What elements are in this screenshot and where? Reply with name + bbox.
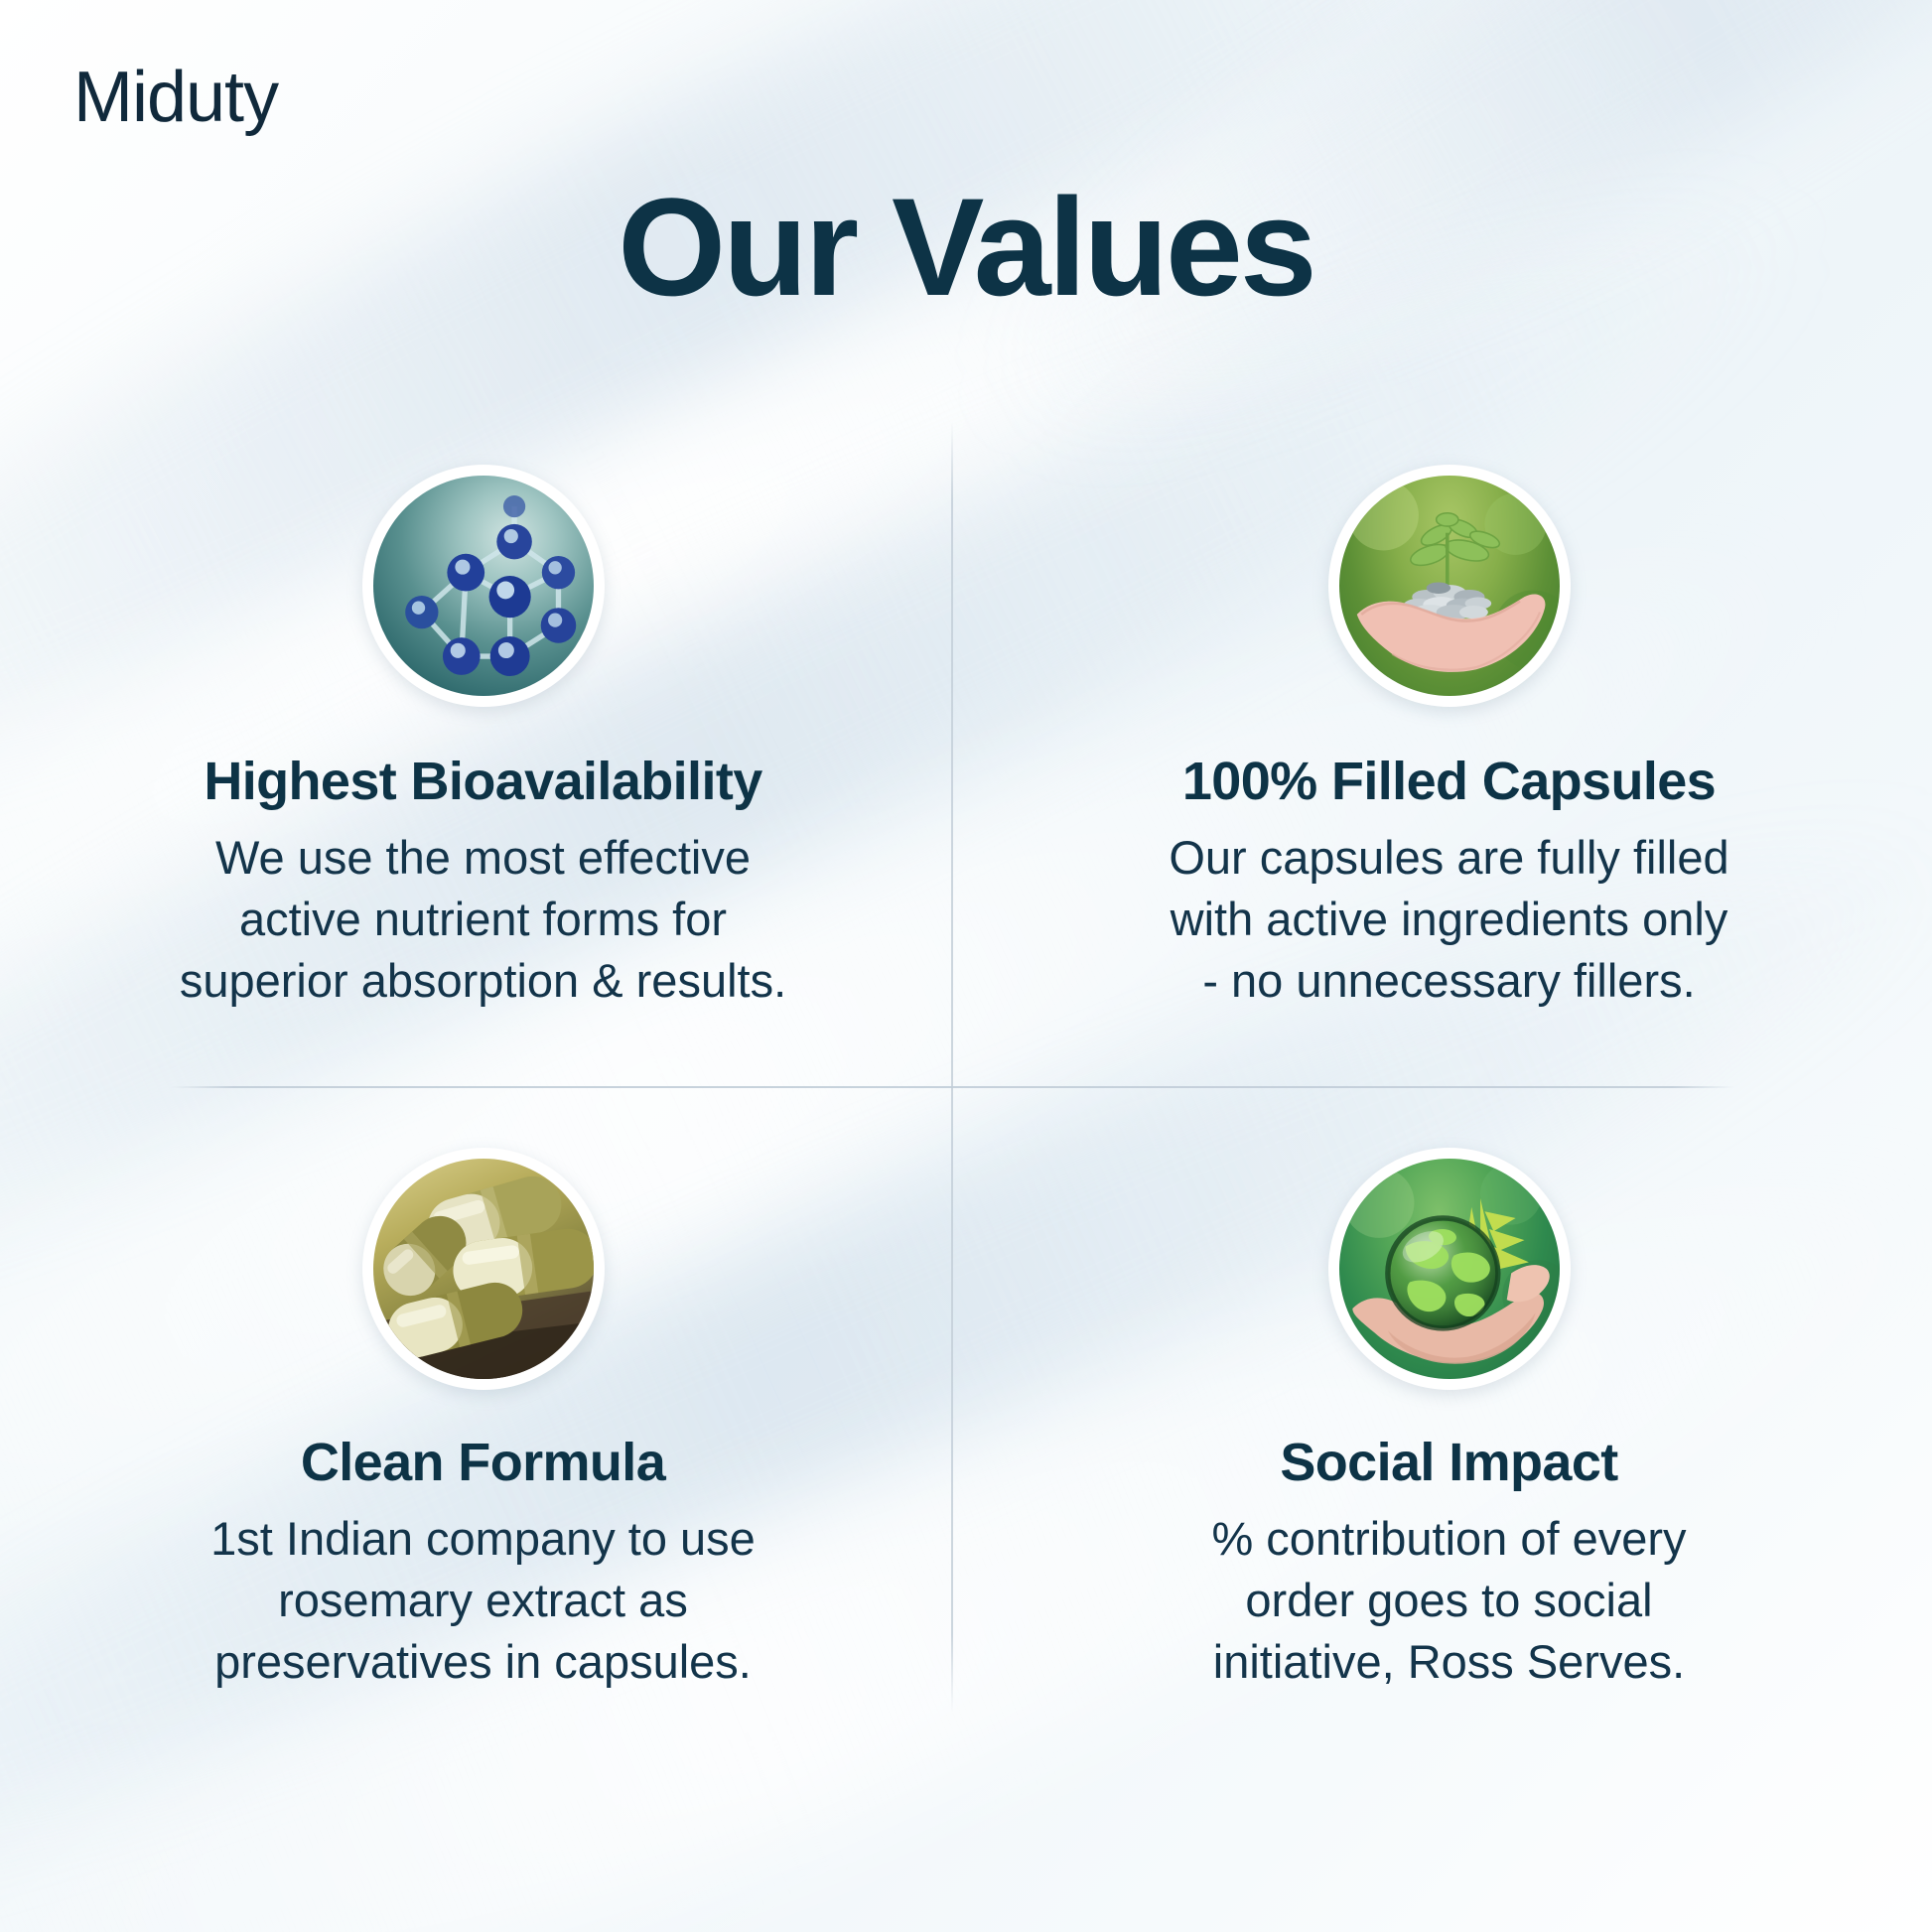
- value-heading: Highest Bioavailability: [204, 753, 761, 811]
- values-grid: Highest Bioavailability We use the most …: [0, 447, 1932, 1729]
- value-icon-frame: [1328, 465, 1571, 707]
- hand-holding-coins-sprout-icon: [1339, 476, 1560, 696]
- value-icon-frame: [362, 1148, 605, 1390]
- value-description: Our capsules are fully filled with activ…: [1169, 827, 1728, 1012]
- values-infographic: Miduty Our Values: [0, 0, 1932, 1932]
- value-icon-frame: [362, 465, 605, 707]
- value-description: % contribution of every order goes to so…: [1211, 1508, 1686, 1693]
- capsules-icon: [373, 1159, 594, 1379]
- molecule-icon: [373, 476, 594, 696]
- page-title: Our Values: [0, 174, 1932, 320]
- value-card-bioavailability: Highest Bioavailability We use the most …: [0, 447, 966, 1088]
- value-card-social-impact: Social Impact % contribution of every or…: [966, 1088, 1932, 1729]
- hand-holding-earth-globe-icon: [1339, 1159, 1560, 1379]
- value-card-clean-formula: Clean Formula 1st Indian company to use …: [0, 1088, 966, 1729]
- value-heading: Clean Formula: [301, 1434, 665, 1492]
- value-description: 1st Indian company to use rosemary extra…: [210, 1508, 756, 1693]
- value-card-filled-capsules: 100% Filled Capsules Our capsules are fu…: [966, 447, 1932, 1088]
- value-description: We use the most effective active nutrien…: [180, 827, 786, 1012]
- value-heading: 100% Filled Capsules: [1182, 753, 1716, 811]
- value-heading: Social Impact: [1280, 1434, 1617, 1492]
- value-icon-frame: [1328, 1148, 1571, 1390]
- brand-logo: Miduty: [73, 62, 278, 133]
